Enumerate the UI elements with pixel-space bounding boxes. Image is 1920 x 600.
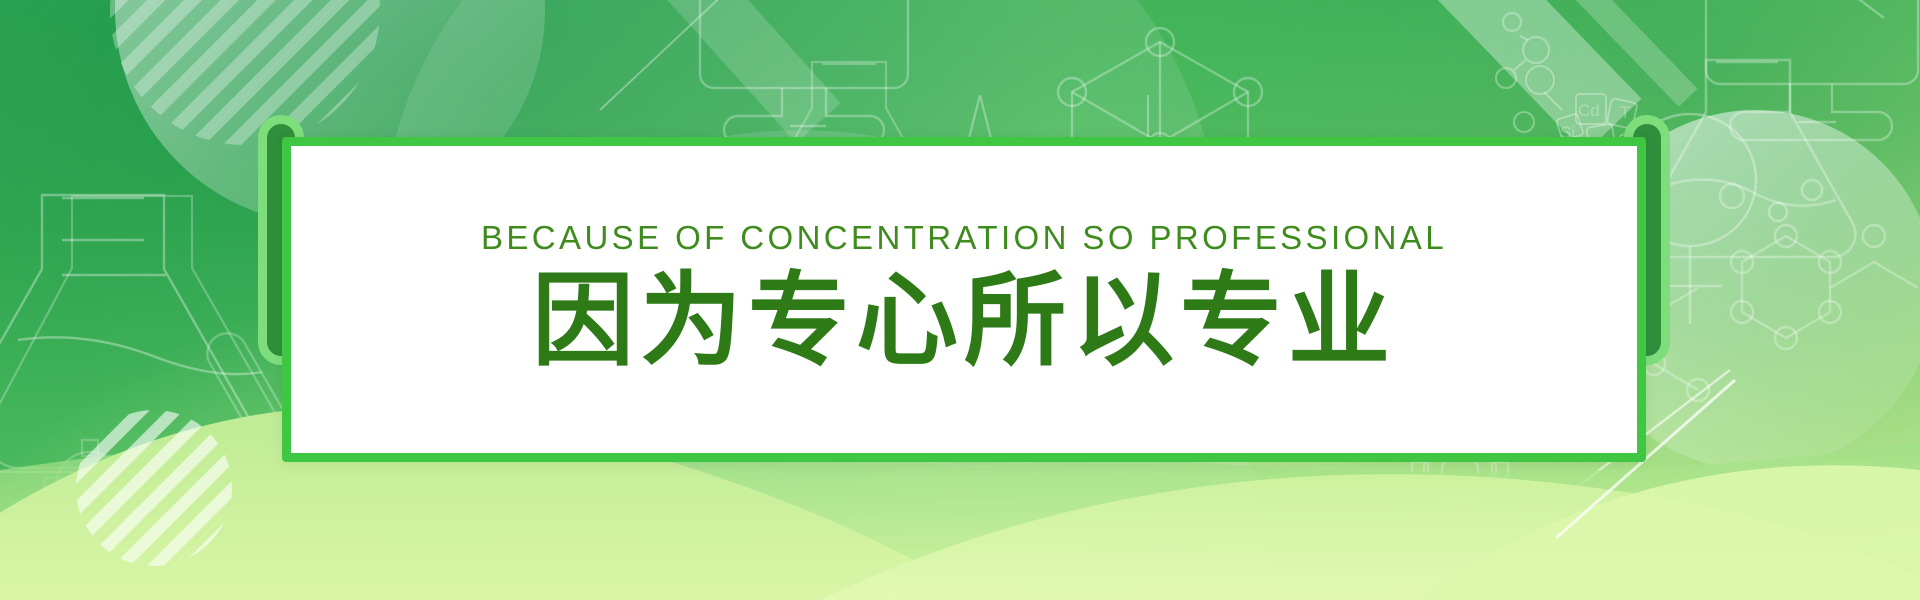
card-headline-text: 因为专心所以专业 (532, 264, 1396, 378)
card-headline-wrapper: 因为专心所以专业 (532, 264, 1396, 378)
headline-card: BECAUSE OF CONCENTRATION SO PROFESSIONAL… (282, 137, 1646, 462)
headline-card-wrapper: BECAUSE OF CONCENTRATION SO PROFESSIONAL… (282, 137, 1646, 462)
card-eyebrow-text: BECAUSE OF CONCENTRATION SO PROFESSIONAL (481, 221, 1447, 254)
striped-circle-icon (76, 410, 232, 566)
promo-banner: Cd T A B Si (0, 0, 1920, 600)
